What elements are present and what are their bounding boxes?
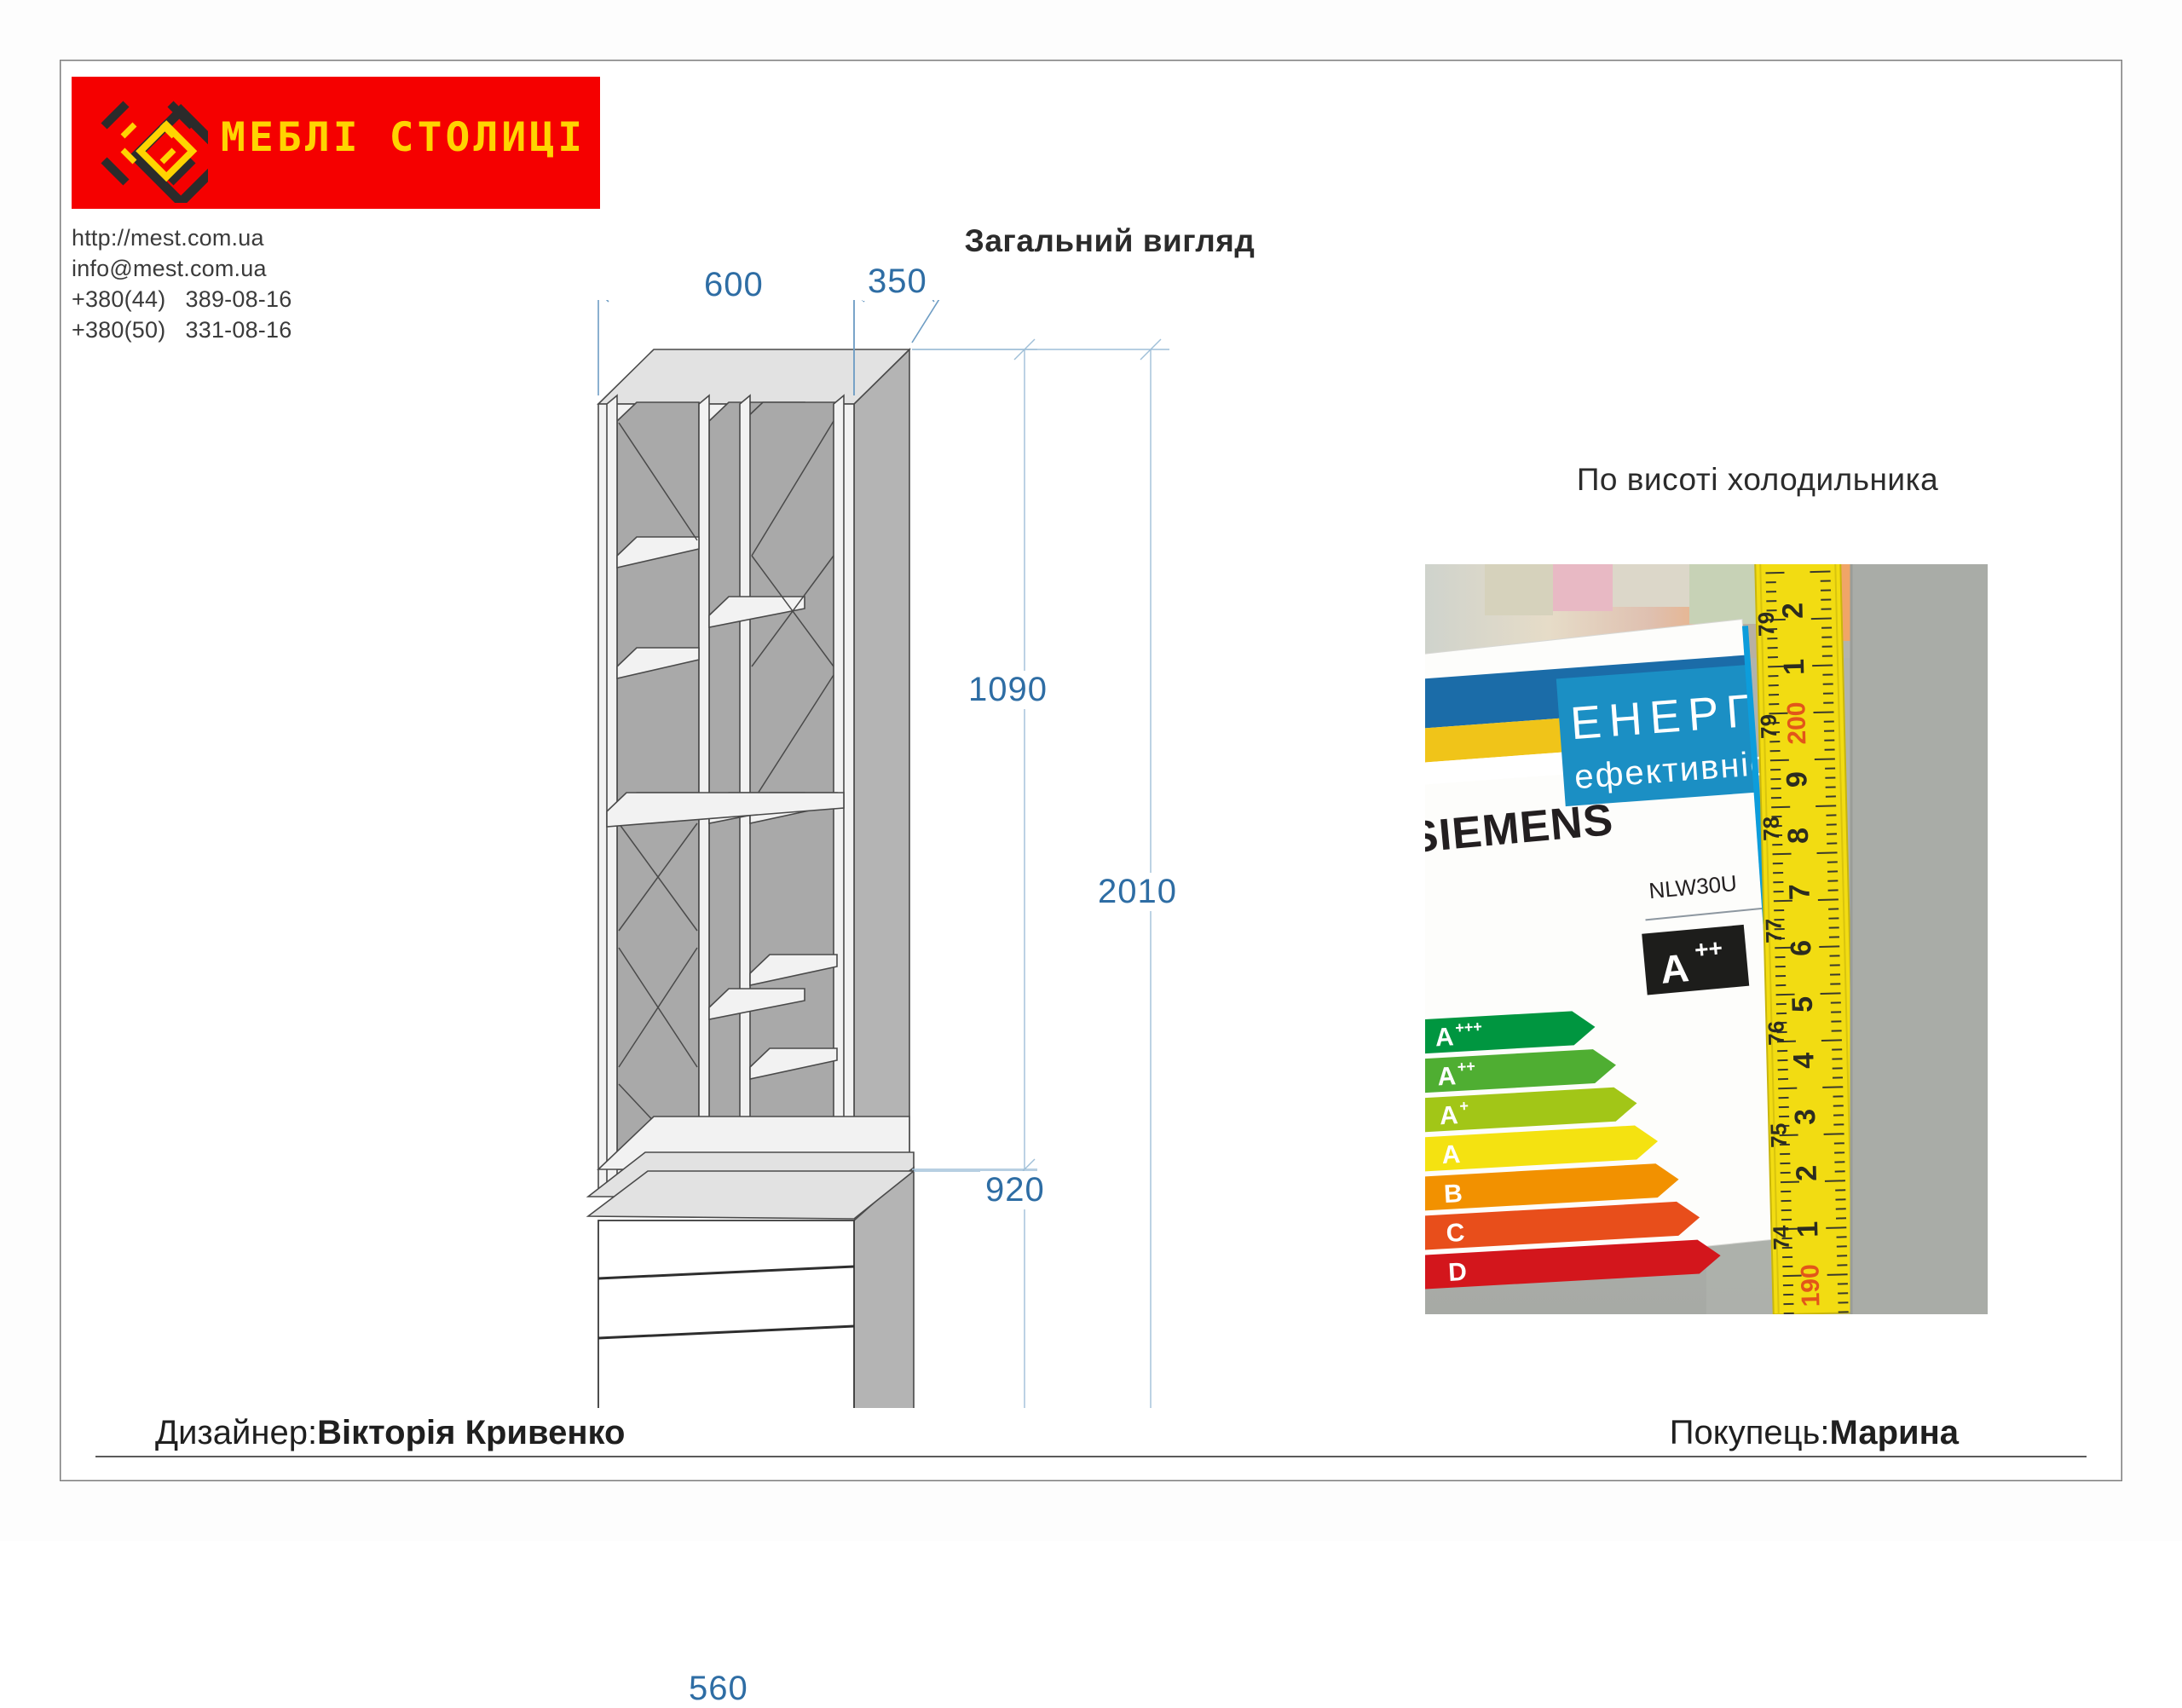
tape-number: 5 [1787, 996, 1819, 1013]
company-logo-block: МЕБЛІ СТОЛИЦІ [72, 77, 600, 209]
tape-number: 3 [1789, 1109, 1821, 1126]
buyer-label: Покупець: [1670, 1414, 1830, 1451]
energy-class-label: C [1446, 1219, 1465, 1248]
dimension-total-2010: 2010 [1093, 873, 1182, 911]
designer-label: Дизайнер: [155, 1414, 317, 1451]
contact-website[interactable]: http://mest.com.ua [72, 223, 515, 254]
dimension-lower-920: 920 [980, 1171, 1050, 1209]
tape-number-small: 79 [1753, 612, 1780, 638]
tape-number: 190 [1796, 1264, 1825, 1307]
energy-class-superscript: ++ [1457, 1058, 1475, 1076]
tape-number: 2 [1790, 1164, 1822, 1181]
tape-number: 2 [1776, 603, 1809, 620]
energy-class-label: A [1437, 1062, 1457, 1091]
fridge-photo-svg: ЕНЕРГО ефективність SIEMENS NLW30U A ++ … [1425, 564, 1988, 1314]
contact-email[interactable]: info@mest.com.ua [72, 254, 515, 285]
energy-class-label: A [1441, 1140, 1461, 1169]
footer-divider [95, 1456, 2087, 1457]
energy-badge-plus: ++ [1694, 934, 1723, 963]
company-logo-mark-icon [89, 84, 208, 203]
tape-number: 7 [1783, 884, 1815, 901]
tape-number: 6 [1785, 940, 1817, 957]
energy-class-label: B [1443, 1180, 1463, 1209]
main-title: Загальний вигляд [811, 223, 1408, 259]
right-section-title: По висоті холодильника [1391, 462, 2124, 498]
tape-number: 8 [1782, 828, 1815, 845]
contact-phone-2: +380(50) 331-08-16 [72, 315, 515, 346]
energy-class-label: A [1439, 1101, 1458, 1130]
company-logo-text: МЕБЛІ СТОЛИЦІ [221, 114, 586, 161]
company-contact-block: http://mest.com.ua info@mest.com.ua +380… [72, 223, 515, 346]
energy-badge-class: A [1659, 945, 1691, 992]
tape-number-small: 79 [1756, 714, 1782, 740]
tape-number-small: 75 [1765, 1122, 1792, 1148]
furniture-drawing: .p-face{fill:#a9a9a9;stroke:#4a4a4a;stro… [573, 300, 1340, 1408]
dimension-upper-1090: 1090 [963, 671, 1053, 709]
designer-name: Вікторія Кривенко [317, 1414, 625, 1451]
furniture-isometric-svg: .p-face{fill:#a9a9a9;stroke:#4a4a4a;stro… [573, 300, 1340, 1408]
tape-number-small: 76 [1763, 1020, 1789, 1046]
buyer-name: Марина [1830, 1414, 1959, 1451]
tape-number-small: 78 [1758, 816, 1784, 841]
energy-class-label: D [1447, 1258, 1467, 1287]
dimension-depth-350: 350 [863, 263, 932, 301]
tape-number-small: 77 [1760, 918, 1787, 943]
energy-class-superscript: +++ [1455, 1018, 1483, 1036]
contact-phone-1: +380(44) 389-08-16 [72, 285, 515, 315]
tape-number: 200 [1782, 701, 1811, 745]
footer-buyer: Покупець:Марина [1670, 1414, 1959, 1452]
tape-number: 4 [1787, 1052, 1820, 1069]
energy-class-label: A [1434, 1023, 1454, 1052]
drawing-sheet: МЕБЛІ СТОЛИЦІ http://mest.com.ua info@me… [60, 60, 2122, 1481]
energy-class-superscript: + [1459, 1097, 1469, 1115]
tape-number-small: 74 [1768, 1225, 1794, 1250]
fridge-height-photo: ЕНЕРГО ефективність SIEMENS NLW30U A ++ … [1425, 564, 1988, 1314]
tape-number: 9 [1781, 771, 1813, 788]
footer-designer: Дизайнер:Вікторія Кривенко [155, 1414, 625, 1452]
dimension-base-560: 560 [684, 1670, 753, 1708]
tape-number: 1 [1792, 1220, 1824, 1238]
dimension-width-600: 600 [699, 266, 769, 304]
tape-number: 1 [1778, 659, 1810, 676]
